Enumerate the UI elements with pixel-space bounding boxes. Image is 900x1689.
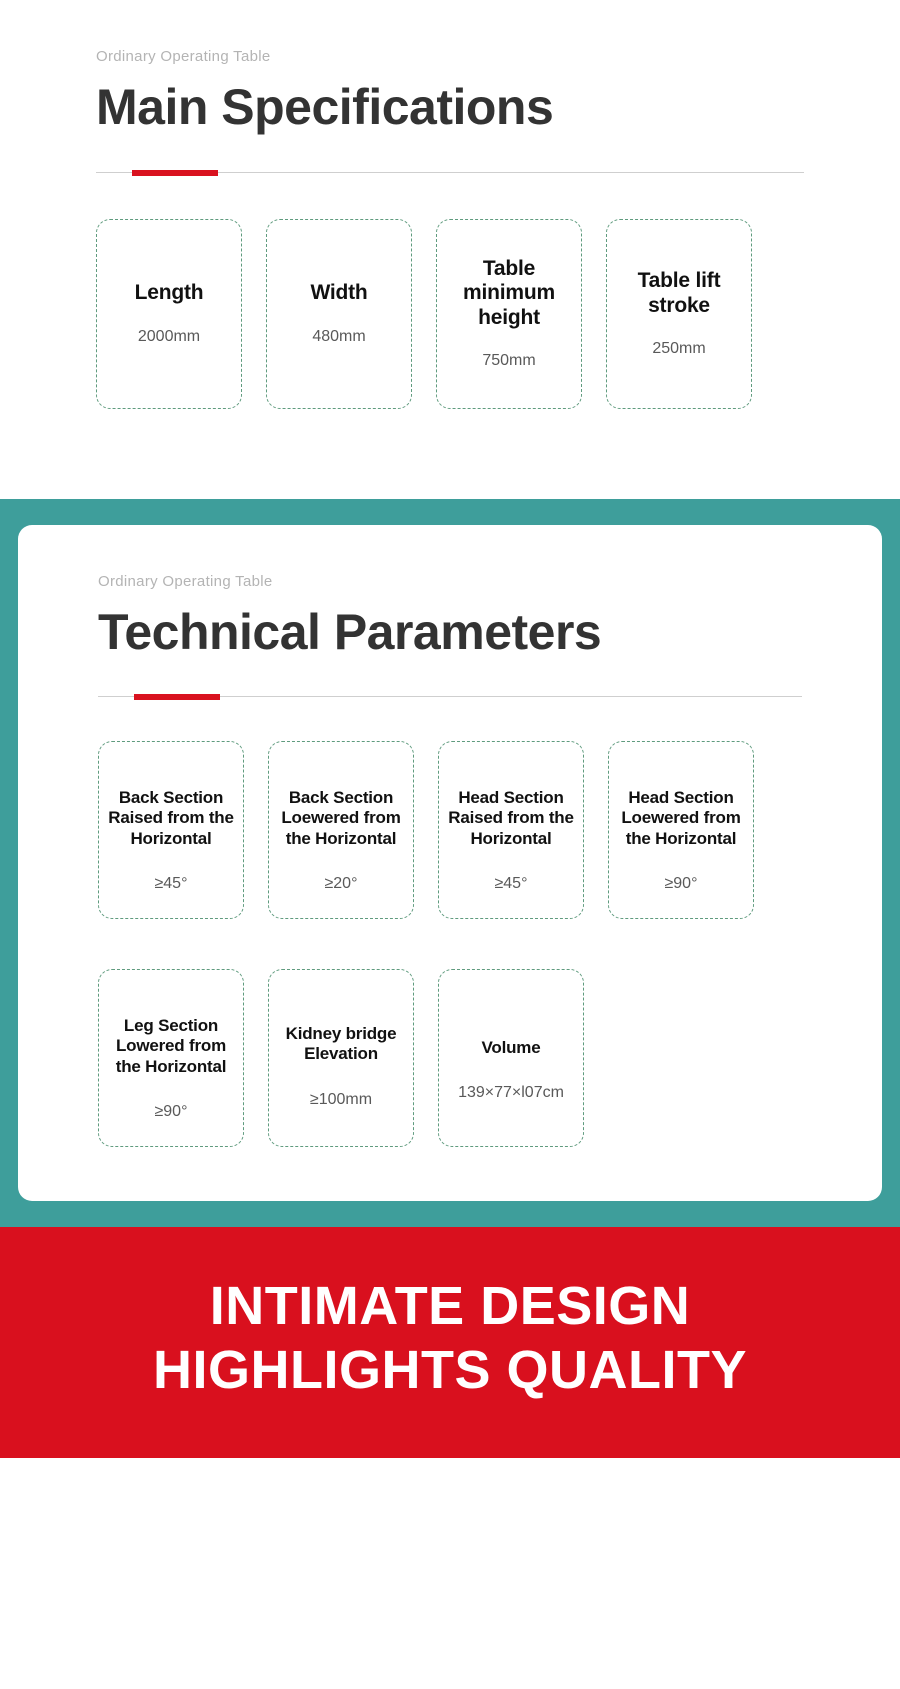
technical-card-title: Kidney bridge Elevation (275, 1024, 407, 1065)
technical-card[interactable]: Kidney bridge Elevation ≥100mm (268, 969, 414, 1147)
technical-card-value: ≥45° (155, 875, 188, 893)
spec-card[interactable]: Length 2000mm (96, 219, 242, 409)
technical-parameters-card: Ordinary Operating Table Technical Param… (18, 525, 882, 1202)
technical-card-value: 139×77×l07cm (458, 1084, 564, 1102)
spec-card[interactable]: Table lift stroke 250mm (606, 219, 752, 409)
technical-card-title: Back Section Raised from the Horizontal (105, 788, 237, 849)
technical-header: Ordinary Operating Table Technical Param… (98, 573, 802, 698)
technical-card-title: Back Section Loewered from the Horizonta… (275, 788, 407, 849)
main-specs-card-row: Length 2000mm Width 480mm Table minimum … (96, 219, 804, 409)
section-spacer (96, 409, 804, 499)
main-specs-header: Ordinary Operating Table Main Specificat… (96, 48, 804, 173)
technical-card-value: ≥100mm (310, 1091, 372, 1109)
technical-card-title: Head Section Raised from the Horizontal (445, 788, 577, 849)
technical-card-value: ≥45° (495, 875, 528, 893)
technical-parameters-section: Ordinary Operating Table Technical Param… (0, 499, 900, 1228)
spec-card-value: 2000mm (138, 328, 200, 346)
product-spec-page: Ordinary Operating Table Main Specificat… (0, 0, 900, 1689)
technical-card-title: Volume (482, 1038, 541, 1058)
spec-card-value: 250mm (652, 340, 705, 358)
divider-accent-bar (132, 170, 218, 176)
spec-card-title: Width (310, 281, 367, 305)
technical-card[interactable]: Back Section Raised from the Horizontal … (98, 741, 244, 919)
technical-title: Technical Parameters (98, 606, 802, 659)
main-specs-divider (96, 172, 804, 173)
spec-card[interactable]: Table minimum height 750mm (436, 219, 582, 409)
spec-card-value: 480mm (312, 328, 365, 346)
technical-card[interactable]: Head Section Loewered from the Horizonta… (608, 741, 754, 919)
technical-card-value: ≥90° (155, 1103, 188, 1121)
technical-card[interactable]: Head Section Raised from the Horizontal … (438, 741, 584, 919)
technical-card[interactable]: Volume 139×77×l07cm (438, 969, 584, 1147)
spec-card-title: Table lift stroke (615, 269, 743, 317)
technical-card[interactable]: Leg Section Lowered from the Horizontal … (98, 969, 244, 1147)
tagline-line-2: HIGHLIGHTS QUALITY (20, 1339, 880, 1403)
spec-card-value: 750mm (482, 352, 535, 370)
technical-eyebrow: Ordinary Operating Table (98, 573, 802, 590)
spec-card[interactable]: Width 480mm (266, 219, 412, 409)
main-specs-title: Main Specifications (96, 81, 804, 134)
tagline-line-1: INTIMATE DESIGN (20, 1275, 880, 1339)
technical-card-row-2: Leg Section Lowered from the Horizontal … (98, 969, 802, 1147)
technical-divider (98, 696, 802, 697)
main-specs-eyebrow: Ordinary Operating Table (96, 48, 804, 65)
technical-card-title: Head Section Loewered from the Horizonta… (615, 788, 747, 849)
technical-card-value: ≥90° (665, 875, 698, 893)
spec-card-title: Table minimum height (445, 257, 573, 329)
tagline-banner: INTIMATE DESIGN HIGHLIGHTS QUALITY (0, 1227, 900, 1458)
main-specifications-section: Ordinary Operating Table Main Specificat… (0, 0, 900, 499)
spec-card-title: Length (135, 281, 204, 305)
technical-card-row-1: Back Section Raised from the Horizontal … (98, 741, 802, 919)
technical-card-title: Leg Section Lowered from the Horizontal (105, 1016, 237, 1077)
technical-card[interactable]: Back Section Loewered from the Horizonta… (268, 741, 414, 919)
technical-card-value: ≥20° (325, 875, 358, 893)
divider-accent-bar (134, 694, 220, 700)
